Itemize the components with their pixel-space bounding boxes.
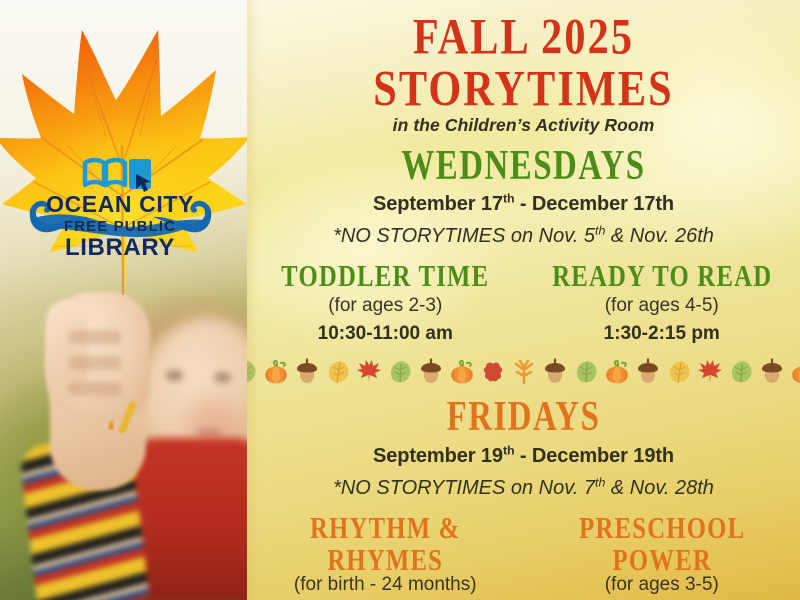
knuckle-crease: [68, 330, 122, 344]
knuckle-crease: [68, 356, 122, 370]
program-ready-to-read: READY TO READ (for ages 4-5) 1:30-2:15 p…: [524, 260, 800, 345]
page-subtitle: in the Children’s Activity Room: [247, 115, 800, 136]
orange-leaf-icon: [511, 358, 537, 385]
program-name: RHYTHM & RHYMES: [260, 512, 511, 576]
acorn-icon: [294, 358, 320, 385]
program-ages: (for birth - 24 months): [253, 574, 518, 596]
program-ages: (for ages 3-5): [530, 574, 795, 596]
program-row-wednesdays: TODDLER TIME (for ages 2-3) 10:30-11:00 …: [247, 260, 800, 345]
child-eye-left: [166, 370, 183, 381]
date-range-suffix: - December 19th: [514, 445, 674, 467]
green-leaf-icon: [573, 358, 599, 385]
acorn-icon: [759, 358, 785, 385]
pumpkin-icon: [263, 358, 289, 385]
program-ages: (for ages 2-3): [253, 295, 518, 317]
day-heading-wednesdays: WEDNESDAYS: [264, 144, 784, 187]
day-heading-fridays: FRIDAYS: [264, 395, 784, 438]
program-time: 10:30-11:00 am: [253, 323, 518, 345]
red-maple-leaf-icon: [356, 358, 382, 385]
red-maple-leaf-icon: [697, 358, 723, 385]
pumpkin-icon: [790, 358, 800, 385]
program-name: PRESCHOOL POWER: [536, 512, 787, 576]
date-range-fridays: September 19th - December 19th: [247, 445, 800, 468]
green-leaf-icon: [728, 358, 754, 385]
program-toddler-time: TODDLER TIME (for ages 2-3) 10:30-11:00 …: [247, 260, 524, 345]
logo-line-1: OCEAN CITY: [46, 191, 194, 217]
note-prefix: *NO STORYTIMES on Nov. 7: [333, 477, 595, 499]
acorn-icon: [635, 358, 661, 385]
program-rhythm-and-rhymes: RHYTHM & RHYMES (for birth - 24 months) …: [247, 512, 524, 600]
knuckle-crease: [68, 382, 122, 396]
date-ordinal-suffix: th: [503, 444, 515, 458]
note-ordinal-suffix: th: [595, 476, 605, 490]
program-preschool-power: PRESCHOOL POWER (for ages 3-5) 11:00-11:…: [524, 512, 800, 600]
child-holding-leaf-photo: OCEAN CITY FREE PUBLIC LIBRARY: [0, 0, 247, 600]
acorn-icon: [542, 358, 568, 385]
ocean-city-free-public-library-logo: OCEAN CITY FREE PUBLIC LIBRARY: [28, 138, 213, 263]
child-mouth: [196, 428, 222, 437]
program-name: READY TO READ: [536, 260, 787, 292]
date-range-prefix: September 17: [373, 193, 503, 215]
yellow-leaf-icon: [325, 358, 351, 385]
date-range-prefix: September 19: [373, 445, 503, 467]
pumpkin-icon: [604, 358, 630, 385]
date-range-suffix: - December 17th: [514, 193, 674, 215]
autumn-icon-divider: [247, 355, 800, 387]
program-name: TODDLER TIME: [260, 260, 511, 292]
note-prefix: *NO STORYTIMES on Nov. 5: [333, 225, 595, 247]
note-ordinal-suffix: th: [595, 224, 605, 238]
content-panel: FALL 2025 STORYTIMES in the Children’s A…: [247, 0, 800, 600]
page-title: FALL 2025 STORYTIMES: [258, 0, 789, 116]
yellow-leaf-icon: [666, 358, 692, 385]
child-eye-right: [214, 372, 231, 383]
logo-line-2: FREE PUBLIC: [64, 218, 176, 235]
logo-line-3: LIBRARY: [65, 234, 175, 261]
pumpkin-icon: [449, 358, 475, 385]
green-leaf-icon: [387, 358, 413, 385]
note-suffix: & Nov. 26th: [605, 225, 714, 247]
no-storytimes-note-wednesdays: *NO STORYTIMES on Nov. 5th & Nov. 26th: [247, 225, 800, 248]
program-time: 1:30-2:15 pm: [530, 323, 795, 345]
red-oak-leaf-icon: [480, 358, 506, 385]
program-ages: (for ages 4-5): [530, 295, 795, 317]
note-suffix: & Nov. 28th: [605, 477, 714, 499]
open-book-and-tablet-icon: [85, 160, 125, 185]
child-thumb: [46, 300, 88, 392]
date-range-wednesdays: September 17th - December 17th: [247, 193, 800, 216]
date-ordinal-suffix: th: [503, 192, 515, 206]
program-row-fridays: RHYTHM & RHYMES (for birth - 24 months) …: [247, 512, 800, 600]
acorn-icon: [418, 358, 444, 385]
poster: OCEAN CITY FREE PUBLIC LIBRARY FALL 2025…: [0, 0, 800, 600]
no-storytimes-note-fridays: *NO STORYTIMES on Nov. 7th & Nov. 28th: [247, 477, 800, 500]
